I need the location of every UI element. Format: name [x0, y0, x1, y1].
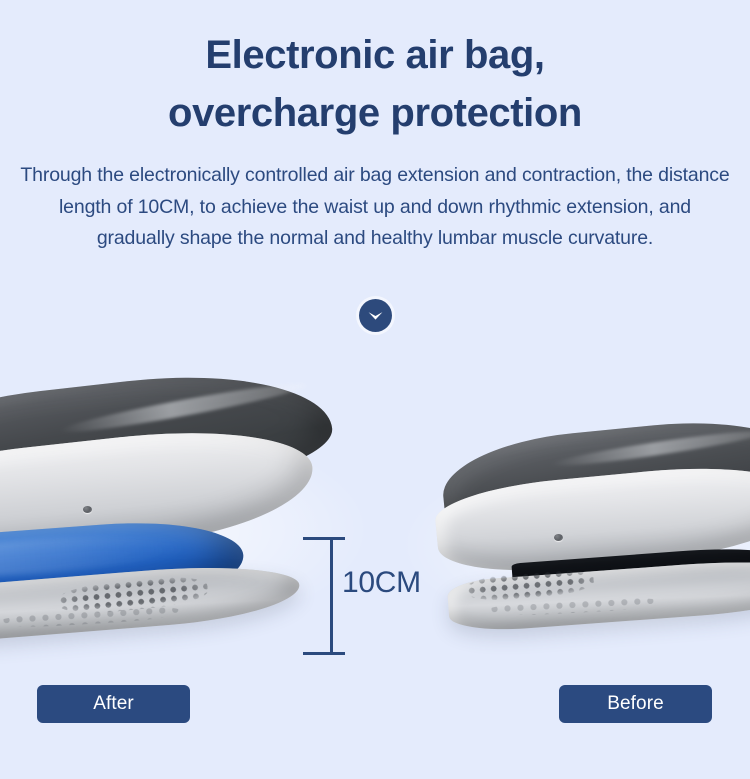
measurement-cap-bottom [303, 652, 345, 655]
page-title: Electronic air bag, overcharge protectio… [0, 26, 750, 142]
product-image-before [430, 426, 750, 646]
measurement-cap-top [303, 537, 345, 540]
product-feature-page: Electronic air bag, overcharge protectio… [0, 0, 750, 779]
page-description: Through the electronically controlled ai… [20, 160, 730, 255]
product-image-after [0, 378, 350, 648]
label-after-button[interactable]: After [37, 685, 190, 723]
label-before-button[interactable]: Before [559, 685, 712, 723]
measurement-annotation: 10CM [300, 532, 440, 660]
device-screw-dot [83, 506, 92, 513]
measurement-label: 10CM [342, 566, 421, 600]
chevron-down-icon[interactable] [359, 299, 392, 332]
device-screw-dot [554, 534, 563, 541]
header-block: Electronic air bag, overcharge protectio… [0, 26, 750, 255]
measurement-line [330, 537, 333, 655]
